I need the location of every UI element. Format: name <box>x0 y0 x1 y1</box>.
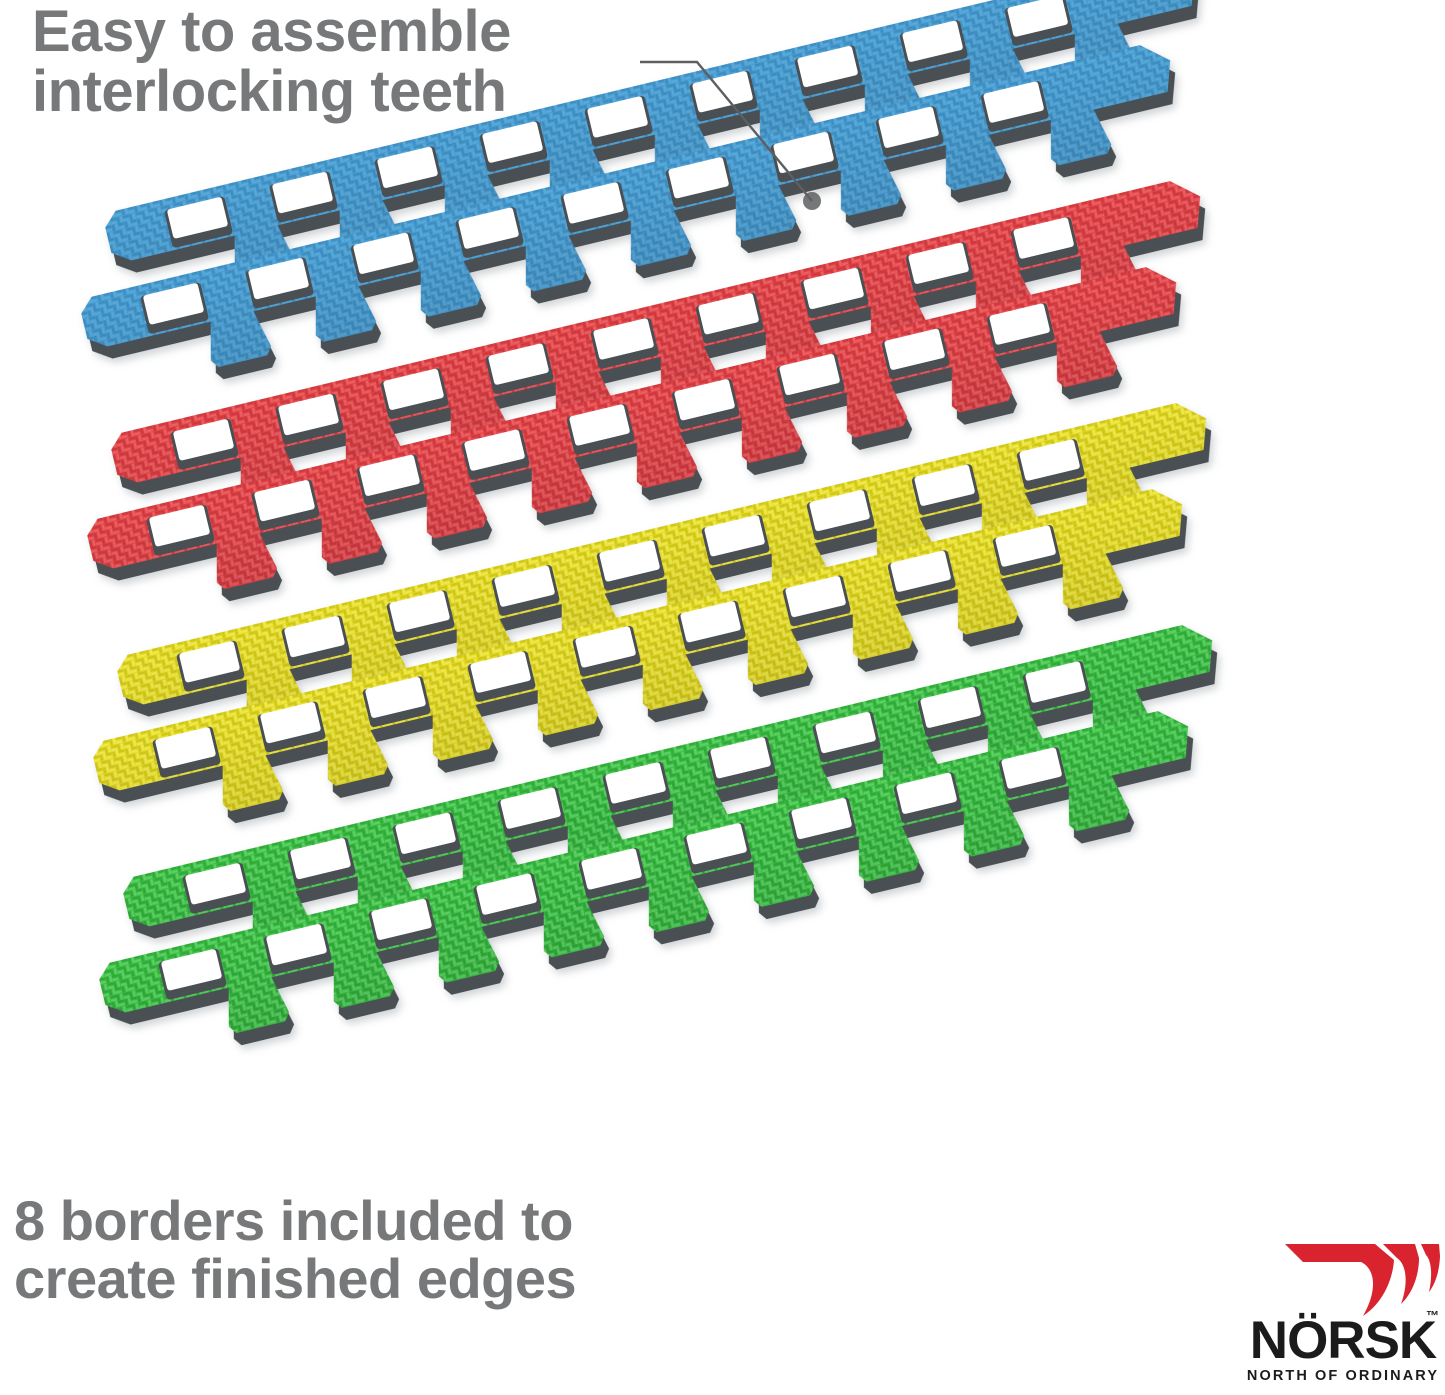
trademark-symbol: ™ <box>1426 1308 1439 1323</box>
norsk-logo: NÖRSK ™ NORTH OF ORDINARY <box>1243 1236 1443 1388</box>
subcopy-text: 8 borders included to create finished ed… <box>14 1192 714 1308</box>
brand-tagline: NORTH OF ORDINARY <box>1243 1368 1443 1384</box>
foam-border-strips-illustration <box>0 0 1445 1395</box>
product-feature-image: Easy to assemble interlocking teeth 8 bo… <box>0 0 1445 1395</box>
headline-text: Easy to assemble interlocking teeth <box>32 2 672 123</box>
brand-wordmark: NÖRSK <box>1243 1314 1443 1367</box>
norsk-swoosh-icon <box>1243 1236 1443 1322</box>
